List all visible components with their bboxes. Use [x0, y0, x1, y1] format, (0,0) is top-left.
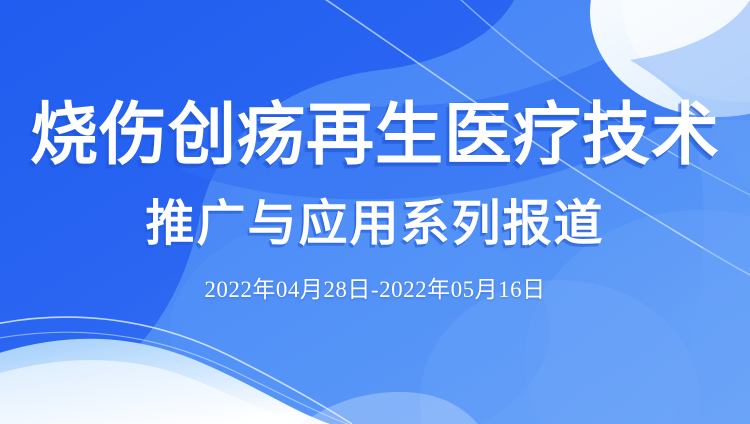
promo-banner: 烧伤创疡再生医疗技术 推广与应用系列报道 2022年04月28日-2022年05…	[0, 0, 750, 424]
banner-content: 烧伤创疡再生医疗技术 推广与应用系列报道 2022年04月28日-2022年05…	[0, 0, 750, 424]
page-subtitle: 推广与应用系列报道	[0, 200, 750, 249]
date-range-label: 2022年04月28日-2022年05月16日	[0, 278, 750, 301]
page-title: 烧伤创疡再生医疗技术	[0, 101, 750, 169]
